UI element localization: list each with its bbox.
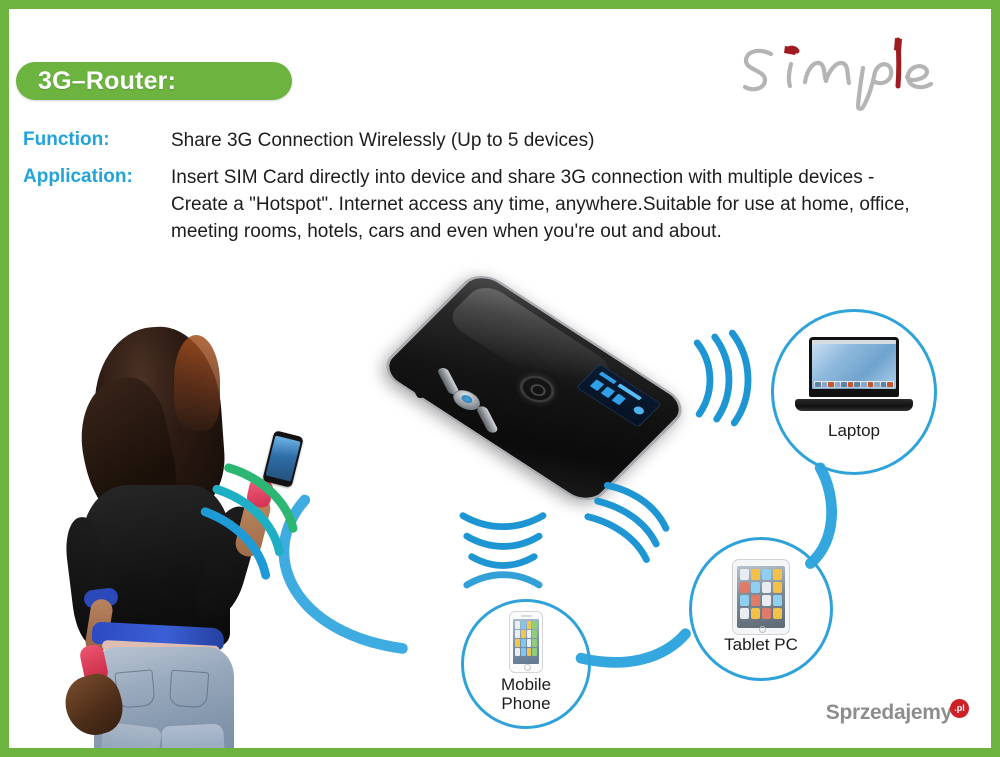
watermark-text: Sprzedajemy	[826, 701, 952, 724]
spec-row-function: Function: Share 3G Connection Wirelessly…	[23, 127, 594, 154]
tablet-screen	[737, 566, 785, 628]
router-lcd-display	[576, 364, 662, 428]
device-caption-mobile-line1: Mobile	[461, 675, 591, 694]
person-hair-highlight	[174, 335, 220, 431]
spec-row-application: Application: Insert SIM Card directly in…	[23, 164, 923, 245]
router-indicator-bar-2	[475, 406, 499, 434]
wifi-waves-mobile	[463, 516, 543, 585]
device-laptop[interactable]: Laptop	[771, 309, 937, 475]
page-title: 3G–Router:	[38, 67, 176, 96]
tablet-home-button	[759, 626, 766, 633]
router-body	[376, 268, 692, 509]
person-leg-right	[161, 723, 225, 757]
spec-value-application: Insert SIM Card directly into device and…	[171, 164, 916, 245]
mobile-screen	[513, 619, 539, 664]
router-device	[407, 297, 677, 497]
page-title-badge: 3G–Router:	[16, 62, 292, 100]
device-tablet[interactable]: Tablet PC	[689, 537, 833, 681]
mobile-home-button	[524, 664, 531, 671]
spec-label-function: Function:	[23, 127, 171, 153]
logo-accent-stroke	[894, 38, 902, 52]
device-caption-laptop: Laptop	[771, 421, 937, 440]
spec-label-application: Application:	[23, 164, 171, 190]
person-jeans-pocket-right	[169, 670, 209, 709]
laptop-base	[795, 399, 913, 411]
laptop-dock	[814, 381, 894, 388]
mobile-phone-icon	[509, 611, 543, 673]
tablet-icon	[732, 559, 790, 635]
laptop-screen	[809, 337, 899, 397]
device-mobile-phone[interactable]: Mobile Phone	[461, 599, 591, 729]
brand-logo	[699, 18, 982, 113]
watermark-badge: .pl	[950, 699, 969, 718]
laptop-menubar	[812, 340, 896, 344]
watermark: Sprzedajemy.pl	[826, 701, 969, 726]
simple-logo-icon	[699, 18, 982, 113]
laptop-icon	[795, 337, 913, 411]
mobile-speaker	[521, 615, 532, 617]
spec-value-function: Share 3G Connection Wirelessly (Up to 5 …	[171, 127, 594, 154]
router-port-nub	[413, 387, 429, 398]
product-sheet-page: 3G–Router: Function: Share 3G Connection…	[0, 0, 1000, 757]
device-caption-mobile-line2: Phone	[461, 694, 591, 713]
device-caption-tablet: Tablet PC	[689, 635, 833, 654]
device-caption-mobile: Mobile Phone	[461, 675, 591, 713]
wifi-waves-laptop	[697, 333, 748, 423]
person-photo	[44, 327, 334, 757]
person-held-phone	[262, 430, 304, 488]
